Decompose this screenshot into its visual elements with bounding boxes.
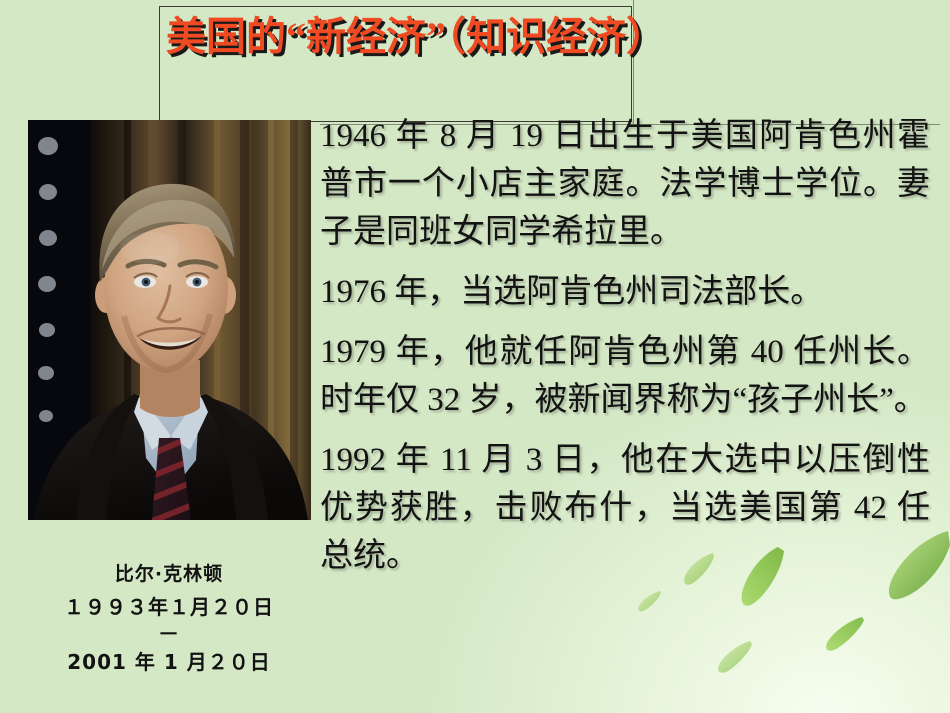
slide-canvas: 美国的“新经济”（知识经济） <box>0 0 950 713</box>
page-title: 美国的“新经济”（知识经济） <box>166 10 786 64</box>
body-paragraph: 1976 年，当选阿肯色州司法部长。 <box>320 268 930 316</box>
body-text-box[interactable]: 1946 年 8 月 19 日出生于美国阿肯色州霍普市一个小店主家庭。法学博士学… <box>320 112 930 632</box>
body-paragraph: 1946 年 8 月 19 日出生于美国阿肯色州霍普市一个小店主家庭。法学博士学… <box>320 112 930 256</box>
body-paragraph: 1992 年 11 月 3 日，他在大选中以压倒性优势获胜，击败布什，当选美国第… <box>320 436 930 580</box>
portrait-image <box>28 120 311 520</box>
photo-caption: 比尔·克林顿 １９９３年１月２０日 一 2001 年 1 月２０日 <box>14 558 324 679</box>
leaf-icon <box>718 641 752 673</box>
caption-name: 比尔·克林顿 <box>14 558 324 591</box>
body-paragraph: 1979 年，他就任阿肯色州第 40 任州长。时年仅 32 岁，被新闻界称为“孩… <box>320 328 930 424</box>
portrait-photo[interactable] <box>28 120 311 520</box>
caption-dash: 一 <box>14 624 324 646</box>
caption-term-end: 2001 年 1 月２０日 <box>14 646 324 679</box>
caption-term-start: １９９３年１月２０日 <box>14 591 324 624</box>
